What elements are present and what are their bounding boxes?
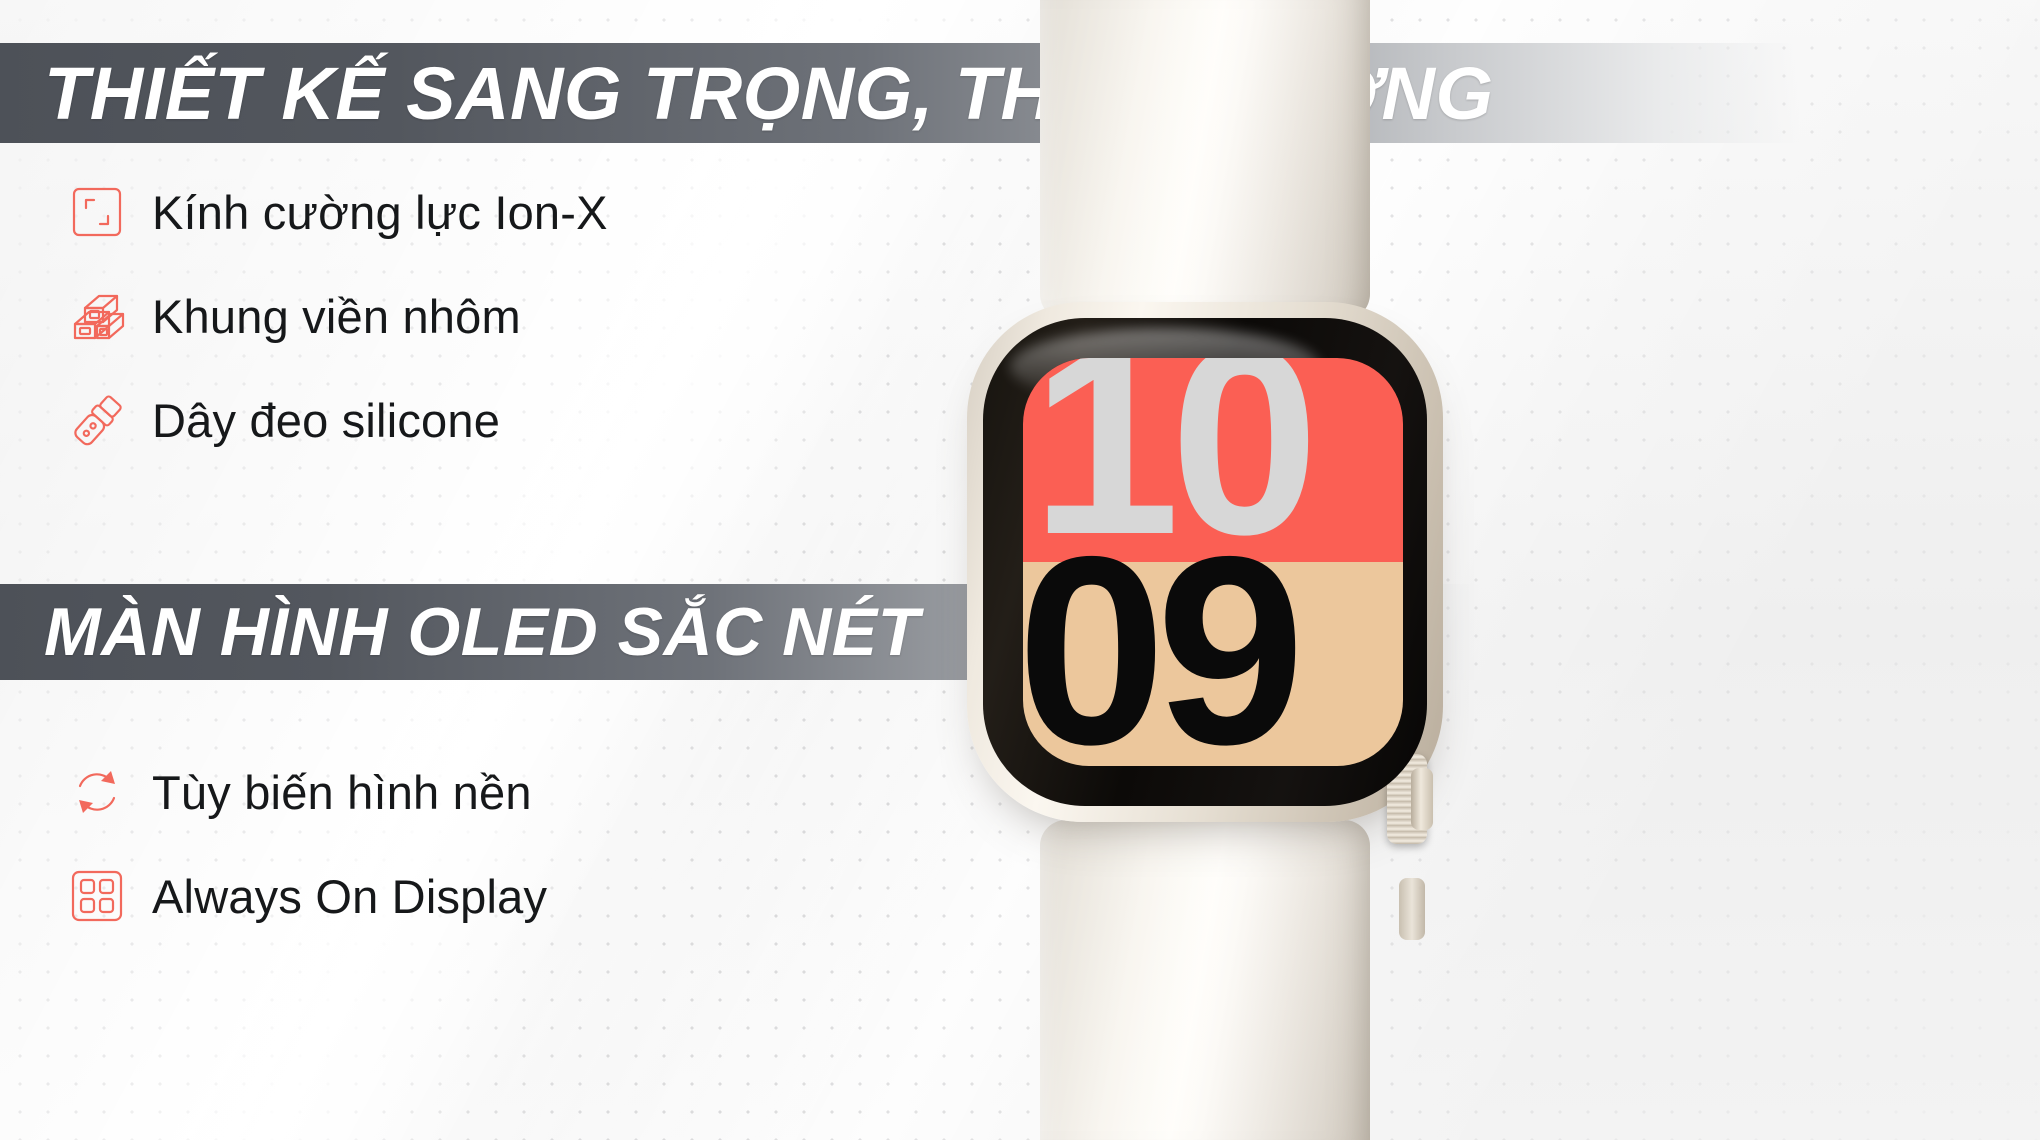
display-feature-list: Tùy biến hình nền Always On Display: [0, 740, 900, 948]
feature-label: Khung viền nhôm: [152, 289, 521, 344]
aluminium-profile-icon: [64, 283, 130, 349]
watch-crown-cap[interactable]: [1411, 768, 1433, 830]
feature-label: Dây đeo silicone: [152, 393, 500, 448]
banner-design: THIẾT KẾ SANG TRỌNG, THỜI THƯỢNG: [0, 43, 1800, 143]
feature-label: Kính cường lực Ion-X: [152, 185, 608, 240]
feature-row: Always On Display: [0, 844, 900, 948]
watch-bezel: 10 09: [983, 318, 1427, 806]
watch-band-bottom: [1040, 820, 1370, 1140]
feature-row: Dây đeo silicone: [0, 368, 900, 472]
grid-squares-icon: [64, 863, 130, 929]
feature-row: Kính cường lực Ion-X: [0, 160, 900, 264]
watch-time-digits: 10 09: [1023, 358, 1403, 766]
watch-band-top: [1040, 0, 1370, 320]
feature-row: Khung viền nhôm: [0, 264, 900, 368]
banner-display-title: MÀN HÌNH OLED SẮC NÉT: [0, 593, 920, 671]
silicone-strap-icon: [64, 387, 130, 453]
watch-case: 10 09: [967, 302, 1443, 822]
product-infographic: THIẾT KẾ SANG TRỌNG, THỜI THƯỢNG Kính cư…: [0, 0, 2040, 1140]
refresh-arrows-icon: [64, 759, 130, 825]
watch-screen[interactable]: 10 09: [1023, 358, 1403, 766]
design-feature-list: Kính cường lực Ion-X: [0, 160, 900, 472]
feature-row: Tùy biến hình nền: [0, 740, 900, 844]
screen-corners-icon: [64, 179, 130, 245]
feature-label: Always On Display: [152, 869, 547, 924]
smartwatch-product-image: 10 09: [925, 0, 1485, 1140]
watch-side-button[interactable]: [1399, 878, 1425, 940]
watch-minute-digits: 09: [1023, 546, 1295, 755]
feature-label: Tùy biến hình nền: [152, 765, 532, 820]
